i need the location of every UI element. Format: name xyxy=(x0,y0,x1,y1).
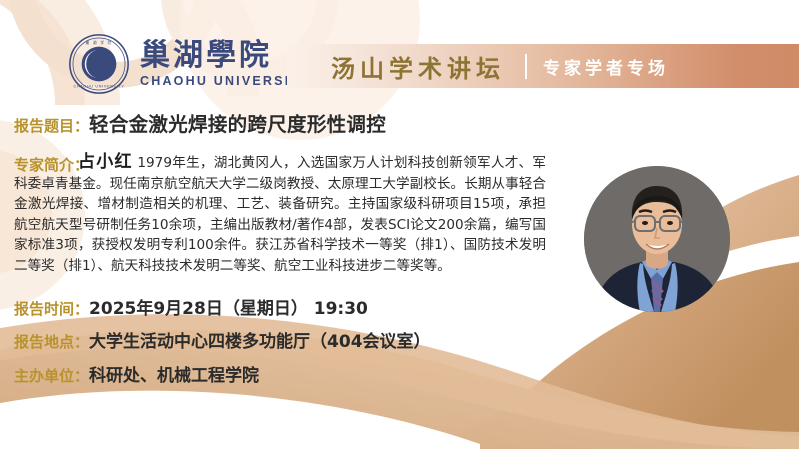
report-title-value: 轻合金激光焊接的跨尺度形性调控 xyxy=(89,108,386,137)
report-title-label: 报告题目 xyxy=(14,115,74,136)
report-time-colon: ： xyxy=(74,298,89,319)
speaker-portrait-image xyxy=(584,166,730,312)
speaker-bio-paragraph: 占小红 1979年生，湖北黄冈人，入选国家万人计划科技创新领军人才、军科委卓青基… xyxy=(14,152,546,276)
report-time-row: 报告时间 ： 2025年9月28日（星期日） 19:30 xyxy=(14,294,368,319)
report-time-label: 报告时间 xyxy=(14,298,74,319)
report-place-row: 报告地点 ： 大学生活动中心四楼多功能厅（404会议室） xyxy=(14,327,431,352)
poster-content: 报告题目 ： 轻合金激光焊接的跨尺度形性调控 专家简介： 占小红 1979年生，… xyxy=(0,0,799,449)
report-title-row: 报告题目 ： 轻合金激光焊接的跨尺度形性调控 xyxy=(14,108,386,137)
report-place-colon: ： xyxy=(74,331,89,352)
report-title-colon: ： xyxy=(74,115,89,136)
report-host-row: 主办单位 ： 科研处、机械工程学院 xyxy=(14,361,259,386)
speaker-bio-block: 专家简介： 占小红 1979年生，湖北黄冈人，入选国家万人计划科技创新领军人才、… xyxy=(14,152,574,276)
speaker-bio-label: 专家简介： xyxy=(14,154,89,175)
poster-canvas: CHAOHU UNIVERSITY 巢 湖 学 院 1977 巢湖學院 CHAO… xyxy=(0,0,799,449)
report-host-colon: ： xyxy=(74,365,89,386)
report-host-label: 主办单位 xyxy=(14,365,74,386)
speaker-bio-text: 1979年生，湖北黄冈人，入选国家万人计划科技创新领军人才、军科委卓青基金。现任… xyxy=(14,155,546,274)
report-host-value: 科研处、机械工程学院 xyxy=(89,361,259,386)
speaker-portrait xyxy=(584,166,730,312)
report-time-value: 2025年9月28日（星期日） 19:30 xyxy=(89,294,368,319)
report-place-value: 大学生活动中心四楼多功能厅（404会议室） xyxy=(89,327,431,352)
report-place-label: 报告地点 xyxy=(14,331,74,352)
